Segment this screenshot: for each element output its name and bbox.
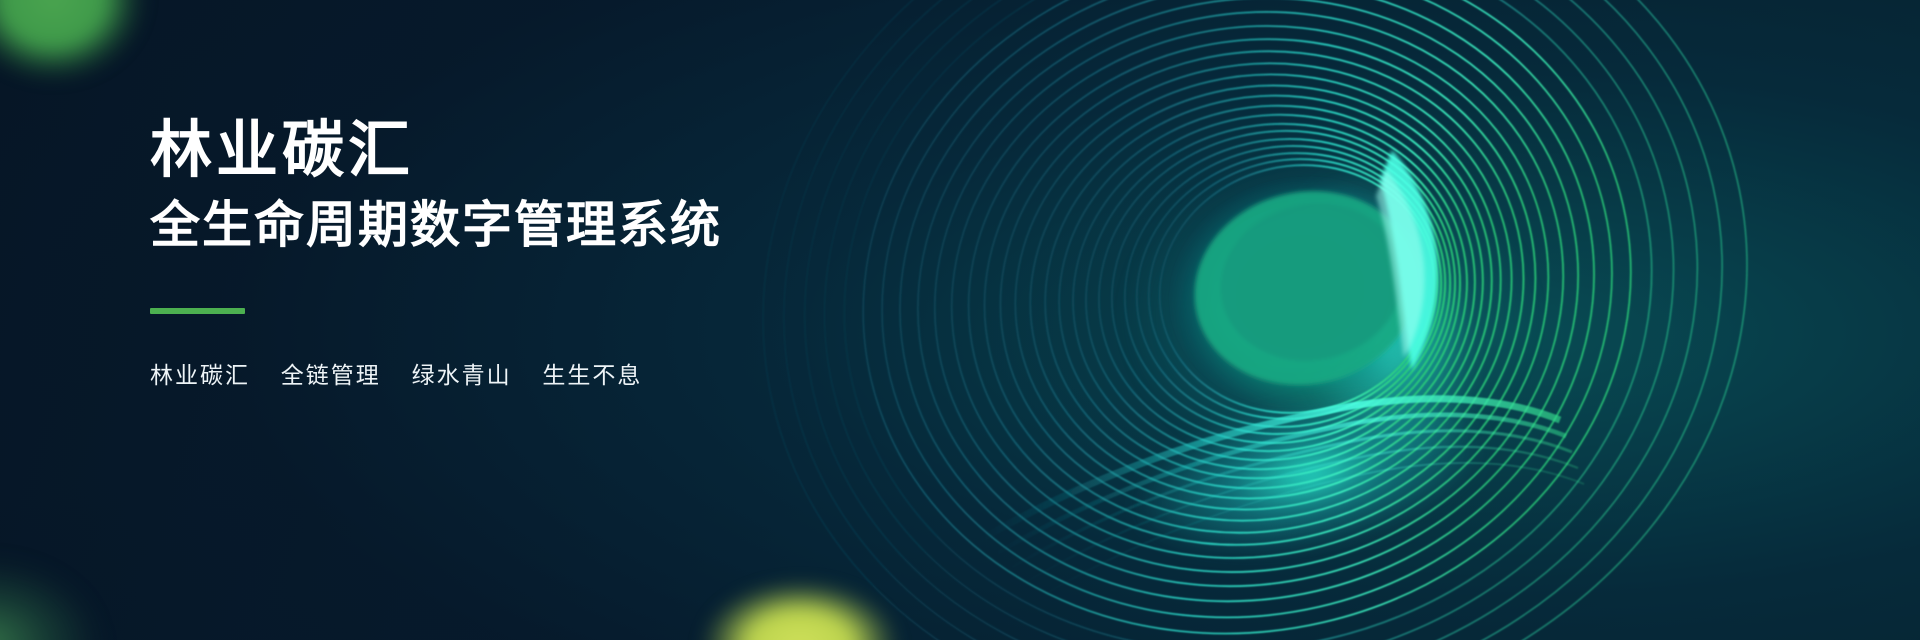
page-subtitle: 全生命周期数字管理系统 [150, 193, 910, 258]
hero-tagline: 林业碳汇 全链管理 绿水青山 生生不息 [150, 356, 910, 390]
accent-divider [150, 308, 245, 314]
hero-text-block: 林业碳汇 全生命周期数字管理系统 林业碳汇 全链管理 绿水青山 生生不息 [150, 118, 910, 390]
tagline-part-1: 林业碳汇 [150, 362, 250, 388]
hero-banner: 林业碳汇 全生命周期数字管理系统 林业碳汇 全链管理 绿水青山 生生不息 [0, 0, 1920, 640]
tagline-part-4: 生生不息 [542, 362, 642, 388]
tagline-part-3: 绿水青山 [412, 362, 512, 388]
page-title: 林业碳汇 [150, 118, 910, 185]
tagline-part-2: 全链管理 [281, 362, 381, 388]
